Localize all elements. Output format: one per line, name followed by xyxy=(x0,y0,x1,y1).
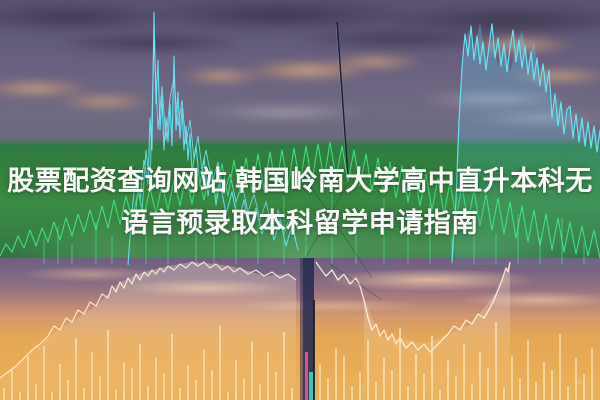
chart-needle-spike-glow xyxy=(336,24,347,176)
banner-headline: 股票配资查询网站 韩国岭南大学高中直升本科无 语言预录取本科留学申请指南 xyxy=(0,160,600,244)
chart-dark-stem xyxy=(313,300,315,400)
chart-navy-band-edge xyxy=(300,258,303,400)
chart-pink-accent xyxy=(305,352,308,400)
watermark-icon: ◇ xyxy=(576,377,582,386)
article-banner: 股票配资查询网站 韩国岭南大学高中直升本科无 语言预录取本科留学申请指南 ◇ xyxy=(0,0,600,400)
chart-cyan-accent xyxy=(309,372,313,400)
chart-needle-spike xyxy=(337,22,348,178)
headline-line-1: 股票配资查询网站 韩国岭南大学高中直升本科无 xyxy=(0,160,600,202)
headline-line-2: 语言预录取本科留学申请指南 xyxy=(0,202,600,244)
